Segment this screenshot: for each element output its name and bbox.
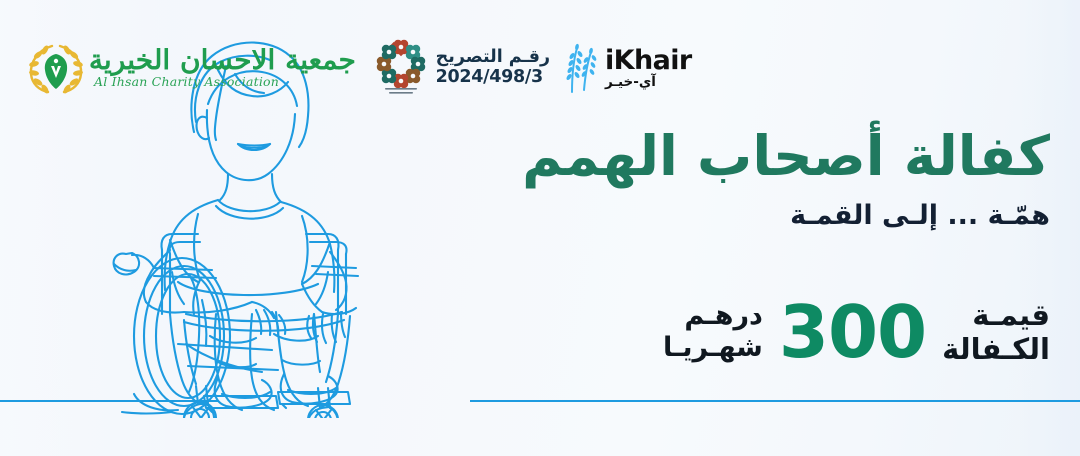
al-ihsan-charity-logo: جمعية الاحسان الخيرية Al Ihsan Charity A… — [26, 40, 351, 96]
permit-text: رقـم التصريح 2024/498/3 — [436, 48, 550, 87]
ikhair-arabic-name: آي-خيـر — [605, 76, 656, 90]
price-unit: درهـم شهـريـا — [663, 300, 763, 364]
wheat-stalks-icon — [558, 40, 600, 96]
al-ihsan-english-name: Al Ihsan Charity Association — [94, 76, 279, 89]
laurel-wreath-icon — [26, 40, 86, 96]
price-amount: 300 — [779, 296, 926, 368]
page-subtitle: همّـة ... إلـى القمـة — [410, 200, 1050, 231]
permit-label: رقـم التصريح — [436, 48, 550, 68]
permit-number: 2024/498/3 — [436, 68, 543, 88]
logo-strip: جمعية الاحسان الخيرية Al Ihsan Charity A… — [0, 30, 1080, 106]
price-label-line2: الكـفالة — [942, 332, 1050, 366]
ikhair-logo: iKhair آي-خيـر — [558, 40, 692, 96]
price-label: قيمـة الكـفالة — [942, 298, 1050, 366]
floral-rosette-icon — [375, 39, 427, 97]
headline-block: كفالة أصحاب الهمم همّـة ... إلـى القمـة — [410, 126, 1050, 231]
ikhair-text: iKhair آي-خيـر — [605, 47, 692, 90]
price-unit-line1: درهـم — [663, 300, 763, 332]
promo-banner: جمعية الاحسان الخيرية Al Ihsan Charity A… — [0, 0, 1080, 456]
price-block: قيمـة الكـفالة 300 درهـم شهـريـا — [663, 296, 1050, 368]
al-ihsan-arabic-name: جمعية الاحسان الخيرية — [89, 47, 356, 74]
ikhair-english-name: iKhair — [605, 47, 692, 74]
al-ihsan-text: جمعية الاحسان الخيرية Al Ihsan Charity A… — [94, 47, 351, 89]
price-unit-line2: شهـريـا — [663, 332, 763, 364]
permit-number-logo: رقـم التصريح 2024/498/3 — [375, 39, 550, 97]
page-title: كفالة أصحاب الهمم — [410, 126, 1050, 188]
price-label-line1: قيمـة — [942, 298, 1050, 332]
